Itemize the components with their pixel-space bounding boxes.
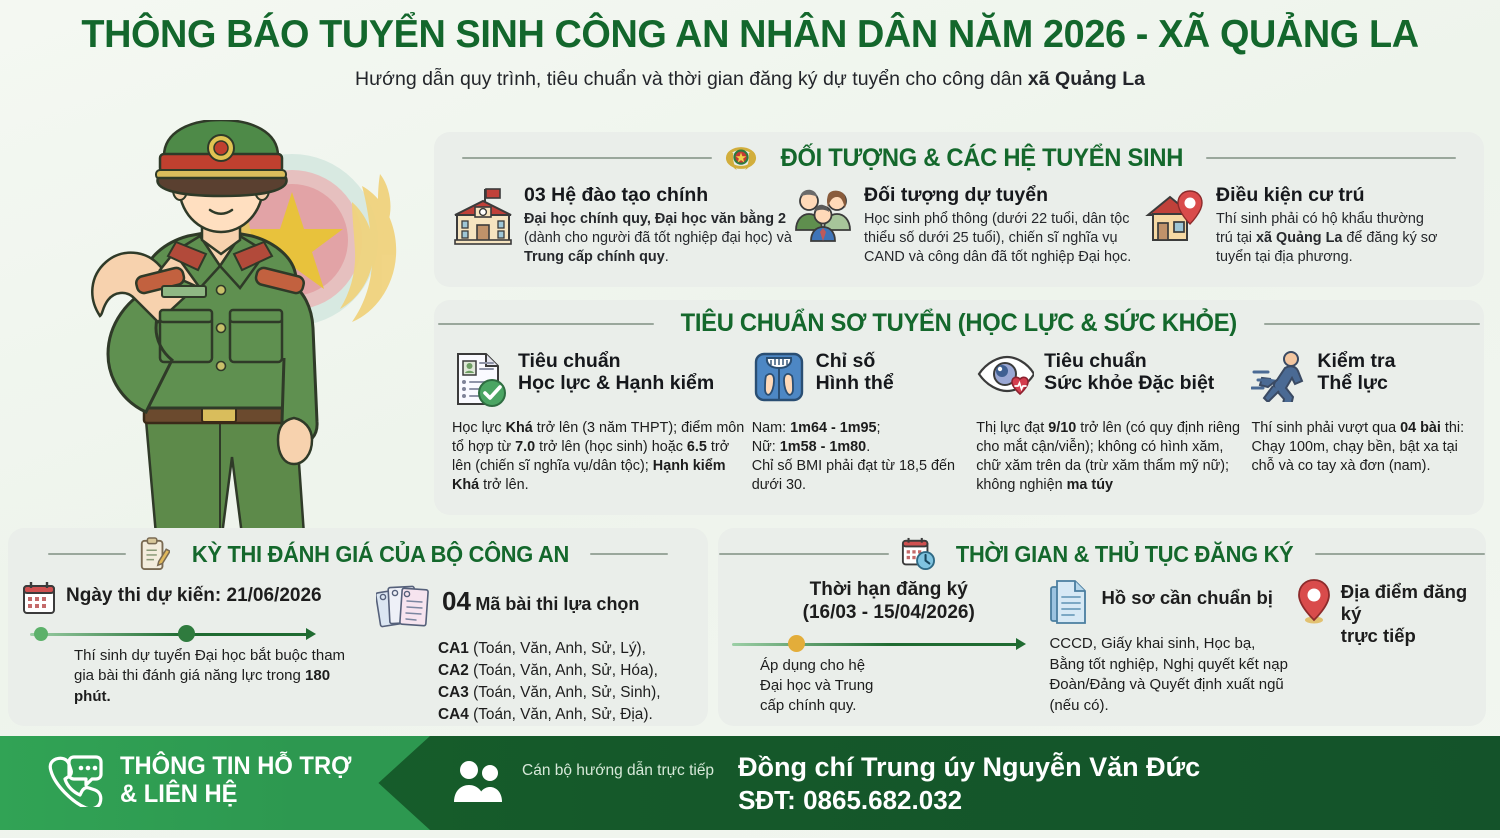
location-line2: trực tiếp	[1341, 625, 1416, 646]
exam-date-block: Ngày thi dự kiến: 21/06/2026 Thí sinh dự…	[22, 581, 362, 726]
registration-deadline-body: Áp dụng cho hệĐại học và Trungcấp chính …	[732, 656, 1045, 717]
exam-code: CA2	[438, 662, 469, 679]
exam-codes-count: 04	[442, 586, 471, 616]
standard-item-heading: Kiểm tra Thể lực	[1317, 350, 1395, 394]
exam-codes-heading: 04 Mã bài thi lựa chọn	[442, 581, 639, 636]
timeline-dot-exam	[178, 625, 195, 642]
page-subtitle-commune: xã Quảng La	[1028, 68, 1145, 90]
standard-item-academic: Tiêu chuẩn Học lực & Hạnh kiểm	[450, 350, 746, 413]
footer-support-label: THÔNG TIN HỖ TRỢ & LIÊN HỆ	[120, 752, 351, 808]
standard-heading-line1: Kiểm tra	[1317, 350, 1395, 372]
divider-right	[1206, 157, 1456, 159]
standard-heading-line2: Hình thể	[816, 372, 894, 394]
section-standards-title: TIÊU CHUẨN SƠ TUYỂN (HỌC LỰC & SỨC KHỎE)	[681, 309, 1237, 338]
standard-body-academic: Học lực Khá trở lên (3 năm THPT); điểm m…	[450, 419, 746, 496]
divider-left	[462, 157, 712, 159]
registration-documents-header: Hồ sơ cần chuẩn bị	[1049, 579, 1292, 630]
exam-codes-label: Mã bài thi lựa chọn	[475, 594, 639, 614]
footer-officer-name: Đồng chí Trung úy Nguyễn Văn Đức	[738, 750, 1200, 784]
section-exam-header: KỲ THI ĐÁNH GIÁ CỦA BỘ CÔNG AN	[8, 528, 708, 571]
section-standards: TIÊU CHUẨN SƠ TUYỂN (HỌC LỰC & SỨC KHỎE)	[434, 300, 1484, 515]
section-recruitment-header: ĐỐI TƯỢNG & CÁC HỆ TUYỂN SINH	[434, 132, 1484, 175]
divider-left	[48, 553, 126, 555]
support-line2: & LIÊN HỆ	[120, 780, 237, 808]
exam-code-row: CA1 (Toán, Văn, Anh, Sử, Lý),	[438, 638, 688, 660]
eye-heart-health-icon	[976, 350, 1034, 413]
registration-deadline-heading: Thời hạn đăng ký (16/03 - 15/04/2026)	[732, 579, 1045, 625]
divider-right	[590, 553, 668, 555]
footer-officer-block: Cán bộ hướng dẫn trực tiếp Đồng chí Trun…	[452, 750, 1200, 817]
deadline-line2: (16/03 - 15/04/2026)	[803, 602, 975, 623]
two-people-icon	[452, 756, 504, 812]
page-subtitle: Hướng dẫn quy trình, tiêu chuẩn và thời …	[0, 68, 1500, 91]
recruitment-item-heading: Điều kiện cư trú	[1216, 185, 1444, 207]
standard-heading-line1: Tiêu chuẩn	[518, 350, 621, 372]
police-emblem-icon	[724, 141, 758, 175]
test-papers-icon	[376, 581, 432, 636]
registration-location-block: Địa điểm đăng ký trực tiếp	[1297, 579, 1472, 717]
exam-codes-block: 04 Mã bài thi lựa chọn CA1 (Toán, Văn, A…	[376, 581, 688, 726]
footer-caption: Cán bộ hướng dẫn trực tiếp	[522, 762, 714, 780]
standard-heading-line2: Thể lực	[1317, 372, 1387, 394]
timeline-arrow	[1016, 638, 1026, 650]
recruitment-item-body: Học sinh phổ thông (dưới 22 tuổi, dân tộ…	[864, 210, 1144, 267]
registration-deadline-block: Thời hạn đăng ký (16/03 - 15/04/2026) Áp…	[732, 579, 1045, 717]
exam-codes-header: 04 Mã bài thi lựa chọn	[376, 581, 688, 636]
section-exam-title: KỲ THI ĐÁNH GIÁ CỦA BỘ CÔNG AN	[191, 541, 568, 568]
section-registration-title: THỜI GIAN & THỦ TỤC ĐĂNG KÝ	[956, 541, 1293, 568]
exam-code-row: CA2 (Toán, Văn, Anh, Sử, Hóa),	[438, 660, 688, 682]
timeline-arrow	[306, 628, 316, 640]
timeline-dot-start	[34, 627, 48, 641]
recruitment-item-residency: Điều kiện cư trú Thí sinh phải có hộ khẩ…	[1144, 185, 1444, 267]
support-line1: THÔNG TIN HỖ TRỢ	[120, 752, 351, 780]
standard-item-fitness: Kiểm tra Thể lực	[1251, 350, 1468, 413]
standard-item-heading: Tiêu chuẩn Học lực & Hạnh kiểm	[518, 350, 714, 394]
page-title: THÔNG BÁO TUYỂN SINH CÔNG AN NHÂN DÂN NĂ…	[23, 14, 1478, 55]
exam-code-row: CA3 (Toán, Văn, Anh, Sử, Sinh),	[438, 682, 688, 704]
recruitment-item-candidates: Đối tượng dự tuyển Học sinh phổ thông (d…	[792, 185, 1144, 267]
exam-code: CA4	[438, 706, 469, 723]
standard-body-physique: Nam: 1m64 - 1m95;Nữ: 1m58 - 1m80.Chỉ số …	[752, 419, 970, 496]
section-recruitment-title: ĐỐI TƯỢNG & CÁC HỆ TUYỂN SINH	[781, 144, 1183, 173]
location-line1: Địa điểm đăng ký	[1341, 581, 1467, 624]
standard-heading-line1: Chỉ số	[816, 350, 876, 372]
calendar-clock-icon	[901, 537, 935, 571]
calendar-icon	[22, 581, 56, 620]
registration-timeline	[732, 637, 1032, 651]
standard-heading-line2: Học lực & Hạnh kiểm	[518, 372, 714, 394]
phone-chat-icon	[48, 753, 104, 807]
exam-code-subjects: (Toán, Văn, Anh, Sử, Địa).	[473, 706, 653, 723]
page-subtitle-text: Hướng dẫn quy trình, tiêu chuẩn và thời …	[355, 68, 1028, 90]
exam-date-header: Ngày thi dự kiến: 21/06/2026	[22, 581, 362, 620]
school-building-icon	[452, 185, 514, 267]
officer-illustration	[18, 120, 438, 535]
family-group-icon	[792, 185, 854, 267]
document-check-icon	[450, 350, 508, 413]
standard-item-health: Tiêu chuẩn Sức khỏe Đặc biệt	[976, 350, 1245, 413]
exam-code-row: CA4 (Toán, Văn, Anh, Sử, Địa).	[438, 704, 688, 726]
standard-body-health: Thị lực đạt 9/10 trở lên (có quy định ri…	[976, 419, 1245, 496]
registration-documents-heading: Hồ sơ cần chuẩn bị	[1101, 579, 1272, 630]
section-recruitment: ĐỐI TƯỢNG & CÁC HỆ TUYỂN SINH	[434, 132, 1484, 287]
divider-left	[719, 553, 889, 555]
location-pin-icon	[1297, 579, 1331, 648]
registration-location-heading: Địa điểm đăng ký trực tiếp	[1341, 579, 1472, 648]
exam-code-subjects: (Toán, Văn, Anh, Sử, Lý),	[473, 640, 646, 657]
registration-documents-body: CCCD, Giấy khai sinh, Học bạ, Bằng tốt n…	[1049, 634, 1292, 717]
saluting-officer-figure	[40, 120, 400, 535]
divider-left	[438, 323, 654, 325]
deadline-line1: Thời hạn đăng ký	[810, 579, 968, 600]
section-registration-header: THỜI GIAN & THỦ TỤC ĐĂNG KÝ	[718, 528, 1486, 571]
weighing-scale-icon	[752, 350, 806, 413]
exam-code: CA1	[438, 640, 469, 657]
registration-location-header: Địa điểm đăng ký trực tiếp	[1297, 579, 1472, 648]
document-stack-icon	[1049, 579, 1091, 630]
recruitment-item-heading: Đối tượng dự tuyển	[864, 185, 1144, 207]
timeline-dot-deadline	[788, 635, 805, 652]
recruitment-item-training-systems: 03 Hệ đào tạo chính Đại học chính quy, Đ…	[452, 185, 792, 267]
exam-timeline	[30, 627, 330, 641]
standard-item-heading: Tiêu chuẩn Sức khỏe Đặc biệt	[1044, 350, 1214, 394]
clipboard-pencil-icon	[138, 537, 170, 571]
exam-code-subjects: (Toán, Văn, Anh, Sử, Hóa),	[473, 662, 658, 679]
footer-contact-bar: THÔNG TIN HỖ TRỢ & LIÊN HỆ Cán bộ hướng …	[0, 730, 1500, 838]
standard-item-physique: Chỉ số Hình thể	[752, 350, 970, 413]
footer-support-block: THÔNG TIN HỖ TRỢ & LIÊN HỆ	[48, 752, 364, 808]
standard-heading-line2: Sức khỏe Đặc biệt	[1044, 372, 1214, 394]
standard-item-heading: Chỉ số Hình thể	[816, 350, 894, 394]
recruitment-item-body: Đại học chính quy, Đại học văn bằng 2 (d…	[524, 210, 792, 267]
standard-heading-line1: Tiêu chuẩn	[1044, 350, 1147, 372]
page-header: THÔNG BÁO TUYỂN SINH CÔNG AN NHÂN DÂN NĂ…	[0, 0, 1500, 91]
footer-phone: SĐT: 0865.682.032	[738, 784, 1200, 817]
exam-date-heading: Ngày thi dự kiến: 21/06/2026	[66, 581, 322, 620]
section-exam: KỲ THI ĐÁNH GIÁ CỦA BỘ CÔNG AN Ngày thi …	[8, 528, 708, 726]
section-registration: THỜI GIAN & THỦ TỤC ĐĂNG KÝ Thời hạn đăn…	[718, 528, 1486, 726]
recruitment-item-heading: 03 Hệ đào tạo chính	[524, 185, 792, 207]
house-location-pin-icon	[1144, 185, 1206, 267]
exam-code: CA3	[438, 684, 469, 701]
exam-date-body: Thí sinh dự tuyển Đại học bắt buộc tham …	[22, 646, 362, 707]
recruitment-item-body: Thí sinh phải có hộ khẩu thường trú tại …	[1216, 210, 1444, 267]
standard-body-fitness: Thí sinh phải vượt qua 04 bài thi: Chạy …	[1251, 419, 1468, 496]
section-standards-header: TIÊU CHUẨN SƠ TUYỂN (HỌC LỰC & SỨC KHỎE)	[434, 300, 1484, 338]
exam-code-subjects: (Toán, Văn, Anh, Sử, Sinh),	[473, 684, 660, 701]
registration-documents-block: Hồ sơ cần chuẩn bị CCCD, Giấy khai sinh,…	[1049, 579, 1292, 717]
divider-right	[1315, 553, 1485, 555]
divider-right	[1264, 323, 1480, 325]
running-person-icon	[1251, 350, 1307, 413]
